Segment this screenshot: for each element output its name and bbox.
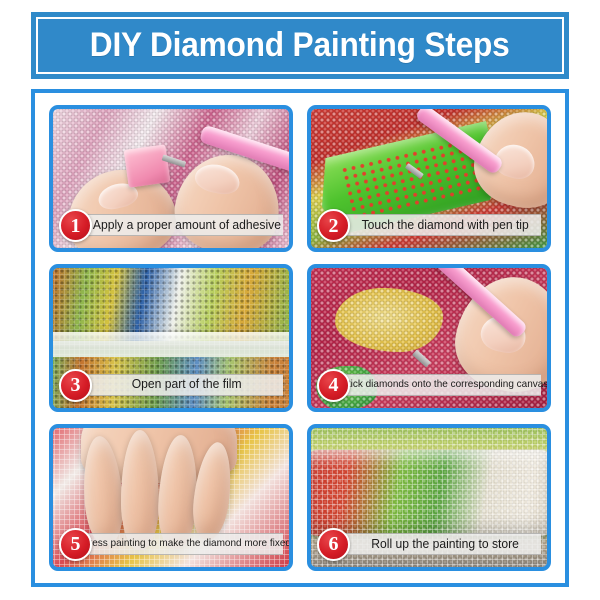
step-caption-1: Apply a proper amount of adhesive	[93, 219, 281, 232]
page-title: DIY Diamond Painting Steps	[90, 26, 510, 65]
step-caption-5: Press painting to make the diamond more …	[83, 539, 292, 549]
step-number-4: 4	[329, 375, 339, 395]
steps-frame: Apply a proper amount of adhesive 1	[31, 89, 569, 587]
steps-grid: Apply a proper amount of adhesive 1	[35, 93, 565, 583]
step-card-1[interactable]: Apply a proper amount of adhesive 1	[49, 105, 293, 252]
step-number-2: 2	[329, 216, 339, 236]
title-banner: DIY Diamond Painting Steps	[31, 12, 569, 79]
step-number-1: 1	[71, 216, 81, 236]
step-caption-bar-4: Stick diamonds onto the corresponding ca…	[337, 374, 541, 396]
step-number-6: 6	[329, 534, 339, 554]
step-card-2[interactable]: Touch the diamond with pen tip 2	[307, 105, 551, 252]
step-caption-bar-6: Roll up the painting to store	[337, 533, 541, 555]
step-caption-bar-1: Apply a proper amount of adhesive	[79, 214, 283, 236]
step-caption-bar-2: Touch the diamond with pen tip	[337, 214, 541, 236]
adhesive-wax-square	[124, 144, 171, 187]
step-number-badge-6: 6	[317, 528, 350, 561]
step-caption-bar-5: Press painting to make the diamond more …	[79, 533, 283, 555]
step-caption-4: Stick diamonds onto the corresponding ca…	[341, 380, 548, 390]
step-caption-3: Open part of the film	[132, 378, 242, 391]
step-card-3[interactable]: Open part of the film 3	[49, 264, 293, 411]
step-caption-2: Touch the diamond with pen tip	[361, 219, 528, 232]
step-caption-6: Roll up the painting to store	[371, 538, 519, 551]
step-caption-bar-3: Open part of the film	[79, 374, 283, 396]
step-number-badge-4: 4	[317, 369, 350, 402]
step-card-4[interactable]: Stick diamonds onto the corresponding ca…	[307, 264, 551, 411]
title-banner-inner: DIY Diamond Painting Steps	[36, 17, 564, 74]
step-number-5: 5	[71, 534, 81, 554]
poster-root: DIY Diamond Painting Steps	[0, 0, 600, 600]
step-number-badge-3: 3	[59, 369, 92, 402]
step-card-5[interactable]: Press painting to make the diamond more …	[49, 424, 293, 571]
step-number-3: 3	[71, 375, 81, 395]
step-number-badge-5: 5	[59, 528, 92, 561]
step-card-6[interactable]: Roll up the painting to store 6	[307, 424, 551, 571]
